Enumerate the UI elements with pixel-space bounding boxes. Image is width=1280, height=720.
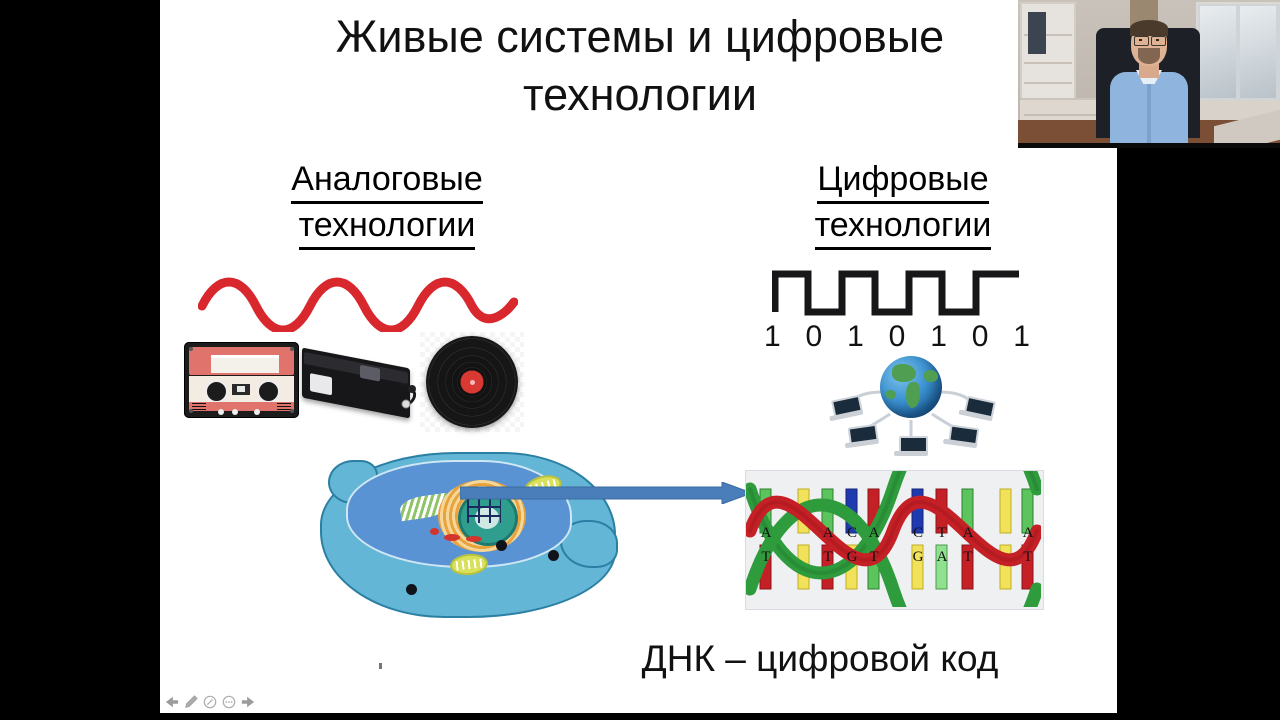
vhs-tape-icon: [302, 350, 422, 422]
arrow-svg: [460, 482, 752, 504]
cassette-screw-tr: [290, 347, 294, 351]
slide-title: Живые системы и цифровые технологии: [220, 8, 1060, 123]
svg-text:A: A: [869, 525, 880, 541]
svg-text:T: T: [823, 549, 832, 565]
sine-wave-svg: [198, 272, 518, 332]
cytoplasm: [346, 460, 572, 568]
vhs-window: [310, 373, 332, 395]
globe-network-graphic: [820, 356, 1002, 462]
vesicle: [430, 528, 439, 535]
webcam-glasses-left: [1134, 36, 1149, 46]
cassette-stripe-left: [192, 403, 206, 410]
cell-to-dna-arrow: [460, 482, 752, 504]
globe-icon: [880, 356, 942, 418]
lysosome: [496, 540, 507, 551]
digital-heading-line2: технологии: [815, 204, 992, 250]
laptop-icon: [894, 436, 928, 458]
binary-digit: 1: [1013, 320, 1030, 354]
binary-digit: 1: [847, 320, 864, 354]
pointer-options-icon[interactable]: [203, 695, 217, 709]
svg-text:T: T: [761, 549, 770, 565]
svg-text:C: C: [913, 525, 923, 541]
webcam-glasses-right: [1151, 36, 1166, 46]
analog-column-heading: Аналоговые технологии: [222, 158, 552, 250]
digital-heading-line1: Цифровые: [817, 158, 988, 204]
webcam-bottom-bar: [1018, 143, 1280, 148]
webcam-shirt-placket: [1147, 80, 1151, 148]
cassette-label: [211, 355, 279, 373]
cassette-hole-left: [218, 409, 224, 415]
animal-cell-diagram: [320, 434, 620, 624]
next-slide-arrow-icon[interactable]: [241, 695, 255, 709]
svg-text:T: T: [937, 525, 946, 541]
binary-digit: 1: [930, 320, 947, 354]
analog-heading-line2: технологии: [299, 204, 476, 250]
vhs-body: [302, 348, 410, 419]
cassette-window-center: [237, 386, 245, 392]
webcam-presenter-beard: [1138, 48, 1160, 64]
square-wave-svg: [772, 268, 1022, 316]
cassette-reel-left: [205, 380, 228, 403]
svg-text:G: G: [913, 549, 924, 565]
cassette-hole-mid: [232, 409, 238, 415]
svg-text:A: A: [937, 549, 948, 565]
vinyl-spindle-hole: [470, 380, 475, 385]
presentation-stage: Живые системы и цифровые технологии Анал…: [0, 0, 1280, 720]
cassette-screw-br: [290, 409, 294, 413]
cassette-reel-right: [257, 380, 280, 403]
vinyl-record-icon: [426, 336, 518, 428]
svg-text:A: A: [761, 525, 772, 541]
presenter-webcam: [1018, 0, 1280, 148]
previous-slide-arrow-icon[interactable]: [165, 695, 179, 709]
webcam-presenter-hair: [1130, 20, 1168, 36]
webcam-shelf-items: [1028, 12, 1046, 54]
binary-digits-row: 1 0 1 0 1 0 1: [764, 320, 1030, 354]
svg-text:G: G: [847, 549, 858, 565]
cassette-screw-bl: [189, 409, 193, 413]
webcam-wardrobe-mirror: [1196, 2, 1280, 104]
binary-digit: 0: [889, 320, 906, 354]
binary-digit: 0: [972, 320, 989, 354]
lysosome: [548, 550, 559, 561]
slide-canvas: Живые системы и цифровые технологии Анал…: [160, 0, 1117, 713]
vhs-unspooled-tape: [397, 380, 421, 410]
webcam-shelf: [1020, 2, 1076, 102]
cassette-window-area: [189, 376, 294, 402]
more-options-icon[interactable]: [222, 695, 236, 709]
cell-membrane: [320, 452, 616, 618]
dna-double-helix-image: AT AT CG AT CG TA AT AT: [745, 470, 1044, 610]
svg-text:T: T: [869, 549, 878, 565]
svg-text:T: T: [963, 549, 972, 565]
analog-sine-wave: [198, 272, 518, 332]
cassette-screw-tl: [189, 347, 193, 351]
cassette-top-band: [189, 347, 294, 375]
mouse-cursor: [379, 663, 382, 669]
digital-column-heading: Цифровые технологии: [738, 158, 1068, 250]
presenter-toolbar[interactable]: [165, 693, 285, 711]
dna-svg: AT AT CG AT CG TA AT AT: [746, 471, 1041, 607]
binary-digit: 1: [764, 320, 781, 354]
vhs-label-panel: [360, 365, 380, 382]
vesicle: [444, 534, 460, 541]
binary-digit: 0: [806, 320, 823, 354]
cassette-stripe-right: [277, 403, 291, 410]
laptop-icon: [943, 424, 980, 451]
webcam-eye-right: [1156, 39, 1159, 41]
analog-heading-line1: Аналоговые: [291, 158, 482, 204]
svg-text:T: T: [1023, 549, 1032, 565]
vesicle: [466, 536, 482, 542]
svg-text:A: A: [1023, 525, 1034, 541]
cassette-bottom-band: [189, 402, 294, 411]
lysosome: [406, 584, 417, 595]
svg-text:A: A: [963, 525, 974, 541]
analog-media-group: [184, 336, 574, 428]
dna-caption: ДНК – цифровой код: [560, 638, 1080, 680]
svg-text:A: A: [823, 525, 834, 541]
audio-cassette-icon: [184, 342, 299, 418]
laptop-icon: [843, 424, 880, 451]
cassette-hole-right: [254, 409, 260, 415]
pen-tool-icon[interactable]: [184, 695, 198, 709]
webcam-eye-left: [1139, 39, 1142, 41]
svg-text:C: C: [847, 525, 857, 541]
digital-square-wave: [772, 268, 1022, 316]
